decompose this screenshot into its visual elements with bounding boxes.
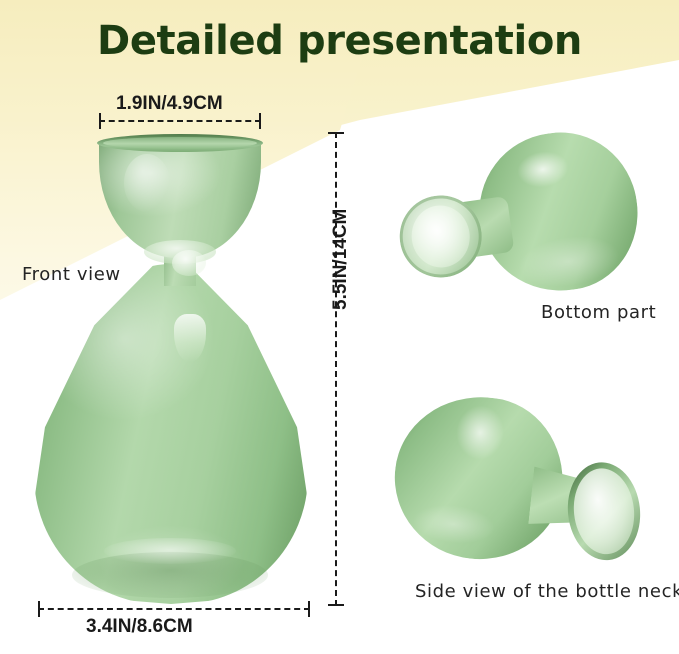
- dimension-cap-bottom-left: [38, 601, 40, 617]
- callout-bottom-part: Bottom part: [541, 302, 656, 323]
- dimension-cap-top-left: [99, 113, 101, 129]
- vessel-cup-highlight: [124, 154, 170, 212]
- dimension-cap-bottom-right: [308, 601, 310, 617]
- dimension-line-bottom: [38, 608, 310, 610]
- bottom-part-glass-vessel: [382, 119, 662, 319]
- dimension-line-height: [335, 132, 337, 606]
- dimension-cap-top-right: [259, 113, 261, 129]
- dimension-line-top: [99, 120, 261, 122]
- dimension-label-bottom: 3.4IN/8.6CM: [86, 616, 193, 638]
- callout-front-view: Front view: [22, 264, 121, 285]
- dimension-cap-height-bottom: [328, 604, 344, 606]
- dimension-label-top: 1.9IN/4.9CM: [116, 93, 223, 115]
- dimension-cap-height-top: [328, 132, 344, 134]
- vessel-cup-rim-inner: [103, 137, 257, 149]
- side-view-bottle-neck-glass-vessel: [383, 384, 668, 591]
- vessel-inner-reflection-upper: [172, 250, 206, 276]
- infographic-canvas: Detailed presentation 1.9IN/4.9CM 3.4IN/…: [0, 0, 679, 654]
- page-title: Detailed presentation: [0, 18, 679, 64]
- front-view-glass-vessel: [26, 132, 316, 606]
- dimension-label-height: 5.5IN/14CM: [330, 209, 352, 310]
- vessel-base-highlight: [104, 538, 236, 564]
- callout-side-view: Side view of the bottle neck: [415, 581, 679, 602]
